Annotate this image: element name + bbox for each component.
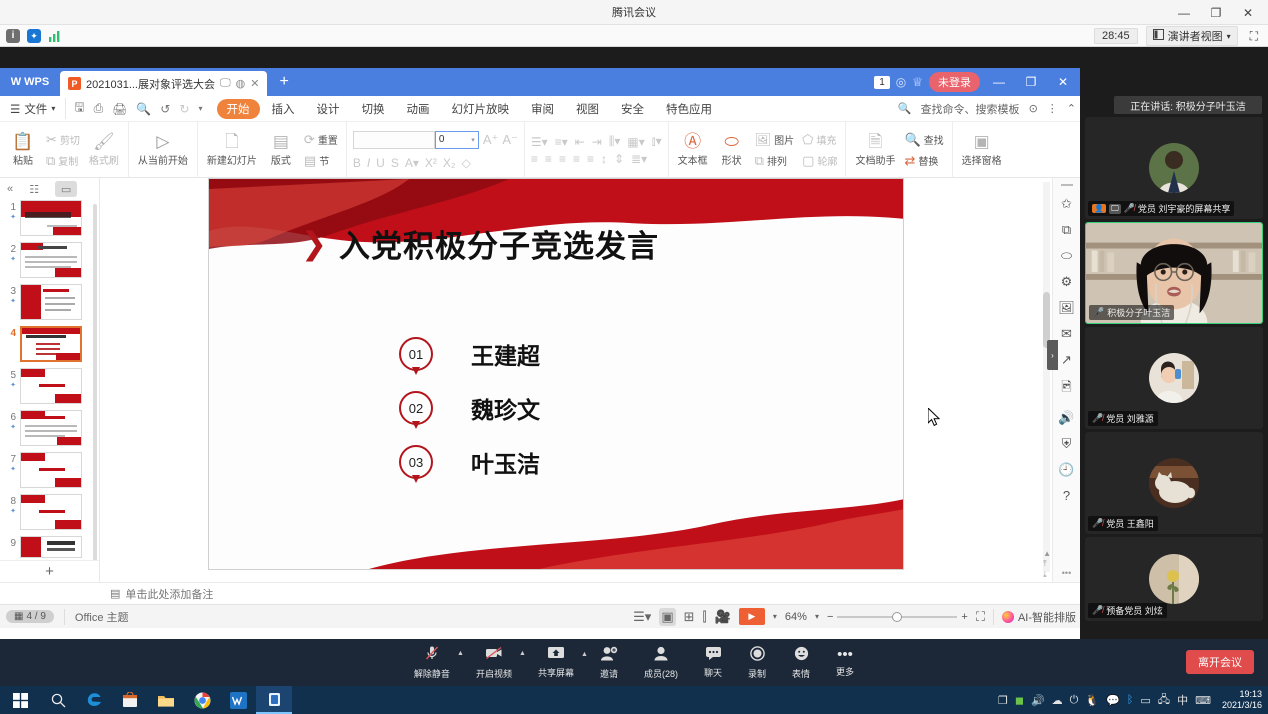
thumbnail-item[interactable]: 9 (2, 536, 99, 558)
nvidia-icon[interactable]: ◼ (1015, 694, 1024, 707)
thumbnail-item[interactable]: 7✦ (2, 452, 99, 488)
host-icon: 👤 (1092, 204, 1106, 213)
tab-切换[interactable]: 切换 (352, 99, 395, 119)
textbox-icon: Ⓐ (684, 133, 701, 151)
signal-icon[interactable] (48, 29, 62, 43)
current-slide[interactable]: ❯ 入党积极分子竞选发言 01 王建超 (208, 178, 904, 570)
ai-icon (1002, 611, 1014, 623)
search-icon: 🔍 (904, 132, 920, 148)
selection-pane-label: 选择窗格 (962, 152, 1002, 167)
font-name-input[interactable] (353, 131, 435, 149)
thumbnail-slide[interactable] (20, 242, 82, 278)
record-label: 录制 (748, 667, 766, 680)
image-icon[interactable]: 🖻 (1061, 378, 1071, 400)
tab-审阅[interactable]: 审阅 (521, 99, 564, 119)
slide-sorter-icon[interactable]: ⊞ (684, 609, 695, 625)
notes-icon: ▤ (110, 587, 120, 600)
cut-button[interactable]: ✂ 剪切 (44, 131, 82, 149)
invite-icon (600, 646, 618, 665)
copy-button[interactable]: ⧉ 复制 (44, 152, 82, 170)
help-icon[interactable]: ⊙ (1029, 102, 1038, 115)
doc-assistant-label: 文档助手 (855, 152, 895, 167)
rail-drag-handle[interactable] (1061, 184, 1073, 186)
smart-align-icon[interactable]: ≣▾ (631, 152, 647, 166)
ribbon-group-selection: ▣ 选择窗格 (953, 122, 1011, 178)
list-item[interactable]: 01 王建超 (399, 337, 540, 371)
zoom-out-button[interactable]: − (827, 611, 833, 623)
ribbon-group-start: ▷ 从当前开始 (129, 122, 198, 178)
invite-button[interactable]: 邀请 (600, 646, 618, 680)
clear-format-icon[interactable]: ◇ (462, 156, 471, 170)
thumbnail-item[interactable]: 2✦ (2, 242, 99, 278)
chevron-down-icon: ▾ (51, 104, 55, 113)
superscript-icon[interactable]: X² (425, 156, 437, 170)
screen-icon[interactable]: 🖵 (220, 77, 231, 90)
outline-view-icon[interactable]: ☷ (23, 181, 45, 197)
outline-button[interactable]: ▢ 轮廓 (800, 152, 839, 170)
more-icon: ••• (837, 647, 853, 663)
layout-button[interactable]: ▤ 版式 (264, 131, 298, 169)
align-right-icon[interactable]: ≡ (559, 152, 566, 166)
wps-window: W WPS P 2021031...展对象评选大会 🖵 ◍ ✕ + 1 ◎ ♕ … (0, 68, 1080, 690)
add-slide-button[interactable]: + (0, 560, 99, 582)
keyboard-icon[interactable]: ⌨ (1195, 694, 1211, 707)
slide-counter[interactable]: ▦ 4 / 9 (6, 610, 54, 623)
picture-button[interactable]: 🖼 图片 (753, 131, 797, 149)
thumbnail-scrollbar[interactable] (93, 204, 97, 560)
line-spacing-icon[interactable]: ↕ (601, 152, 607, 166)
close-tab-icon[interactable]: ✕ (250, 77, 259, 90)
doc-assistant-button[interactable]: 🗎 文档助手 (852, 131, 898, 169)
rail-more-icon[interactable]: ••• (1062, 568, 1071, 578)
maximize-button[interactable]: ❐ (1200, 1, 1232, 25)
emoji-label: 表情 (792, 667, 810, 680)
start-from-current-button[interactable]: ▷ 从当前开始 (135, 131, 191, 169)
notes-pane[interactable]: ▤ 单击此处添加备注 (0, 582, 1080, 604)
tab-动画[interactable]: 动画 (397, 99, 440, 119)
search-input[interactable]: 查找命令、搜索模板 (921, 101, 1020, 117)
thumbnail-item[interactable]: 8✦ (2, 494, 99, 530)
scroll-up-icon[interactable]: ▲ (1043, 549, 1051, 558)
wps-icon[interactable] (220, 686, 256, 714)
align-text-icon[interactable]: ▦▾ (627, 135, 644, 149)
ribbon-group-font: 0▾ A⁺ A⁻ B I U S A▾ X² X₂ (347, 122, 525, 178)
audio-icon[interactable]: 🔊 (1058, 410, 1074, 426)
search-icon[interactable]: 🔍 (898, 102, 912, 115)
fill-label: 填充 (816, 132, 836, 147)
participant-tile-active[interactable]: 🎤 积极分子叶玉洁 (1085, 222, 1263, 324)
thumbnail-slide[interactable] (20, 368, 82, 404)
thumbnail-slide[interactable] (20, 284, 82, 320)
decrease-indent-icon[interactable]: ⇤ (575, 135, 585, 149)
wps-close-button[interactable]: ✕ (1050, 75, 1076, 89)
print-preview-icon[interactable]: ⎙ (94, 101, 104, 116)
thumbnail-item-selected[interactable]: 4 (2, 326, 99, 362)
ime-icon[interactable]: 中 (1177, 692, 1188, 708)
skin-icon[interactable]: ♕ (912, 75, 923, 89)
members-icon (653, 646, 669, 665)
more-label: 更多 (836, 665, 854, 678)
theme-label[interactable]: Office 主题 (64, 609, 129, 625)
members-button[interactable]: 成员(28) (644, 646, 678, 680)
gallery-icon[interactable]: 🖼 (1058, 300, 1075, 316)
document-tab[interactable]: P 2021031...展对象评选大会 🖵 ◍ ✕ (60, 71, 267, 96)
clock-date: 2021/3/16 (1222, 700, 1262, 711)
star-icon[interactable]: ✩ (1061, 196, 1072, 212)
tab-插入[interactable]: 插入 (262, 99, 305, 119)
thumbnail-slide[interactable] (20, 200, 82, 236)
replace-label: 替换 (918, 153, 938, 168)
tab-count-badge[interactable]: 1 (874, 76, 890, 89)
security-icon[interactable]: ⛨ (1062, 436, 1072, 452)
list-item[interactable]: 02 魏珍文 (399, 391, 540, 425)
shape-button[interactable]: ⬭ 形状 (715, 131, 749, 169)
windows-taskbar: ❐ ◼ 🔊 ☁ ⏻ 🐧 💬 ᛒ ▭ 🖧 中 ⌨ 19:13 2021/3/16 (0, 686, 1268, 714)
presenter-view-icon[interactable]: 🎥 (715, 609, 731, 625)
store-icon[interactable] (112, 686, 148, 714)
doc-assistant-icon: 🗎 (869, 133, 883, 151)
participant-panel: 正在讲话: 积极分子叶玉洁 ↩ 👤 🖵 🎤̸ 党员 刘宇豪的屏幕共 (1080, 94, 1268, 686)
tab-安全[interactable]: 安全 (611, 99, 654, 119)
wps-status-bar: ▦ 4 / 9 Office 主题 ☰▾ ▣ ⊞ ⫿ 🎥 ▶ ▾ 64% ▾ (0, 604, 1080, 628)
search-icon[interactable] (40, 686, 76, 714)
redo-icon[interactable]: ↻ (179, 102, 189, 116)
wps-main-area: « ☷ ▭ 1✦ (0, 178, 1080, 582)
chevron-down-icon: ▾ (1227, 32, 1231, 41)
layout-label: 版式 (271, 152, 291, 167)
decrease-font-icon[interactable]: A⁻ (502, 132, 518, 148)
explorer-icon[interactable] (148, 686, 184, 714)
paragraph-spacing-icon[interactable]: ⇕ (614, 152, 624, 166)
participant-label: 🎤̸ 预备党员 刘炫 (1088, 603, 1167, 618)
increase-indent-icon[interactable]: ⇥ (592, 135, 602, 149)
chat-icon (705, 646, 722, 664)
font-size-input[interactable]: 0 (439, 134, 445, 145)
tab-幻灯片放映[interactable]: 幻灯片放映 (442, 99, 520, 119)
distribute-icon[interactable]: ≡ (587, 152, 594, 166)
fill-icon: ⬠ (802, 132, 813, 148)
new-slide-label: 新建幻灯片 (207, 152, 257, 167)
find-icon[interactable]: 🔍 (136, 102, 151, 116)
number-list-icon[interactable]: ≡▾ (555, 135, 568, 149)
emoji-button[interactable]: 表情 (792, 646, 810, 680)
participant-tile[interactable]: 🎤̸ 党员 刘雅源 (1085, 327, 1263, 429)
brush-icon: 🖌 (93, 133, 115, 151)
collapse-ribbon-icon[interactable]: ⌃ (1067, 102, 1076, 115)
fit-to-window-icon[interactable]: ⛶ (976, 609, 985, 625)
meeting-icon[interactable] (256, 686, 292, 714)
section-button[interactable]: ▤ 节 (302, 152, 340, 170)
play-options-icon[interactable]: ▾ (773, 612, 777, 621)
outline-icon: ▢ (802, 153, 814, 169)
quick-access-toolbar: 🖫 ⎙ 🖨 🔍 ↺ ↻ ▾ (65, 98, 210, 119)
meeting-titlebar: 腾讯会议 — ❐ ✕ (0, 0, 1268, 25)
thumbnail-item[interactable]: 5✦ (2, 368, 99, 404)
textbox-label: 文本框 (678, 152, 708, 167)
list-item[interactable]: 03 叶玉洁 (399, 445, 540, 479)
thumbnail-slide[interactable] (20, 410, 82, 446)
clock[interactable]: 19:13 2021/3/16 (1218, 689, 1262, 711)
animation-star-icon: ✦ (2, 297, 16, 305)
slide-thumbnail-panel: « ☷ ▭ 1✦ (0, 178, 100, 582)
print-icon[interactable]: 🖨 (112, 102, 127, 116)
collapse-panel-icon[interactable]: « (7, 183, 13, 195)
tab-开始[interactable]: 开始 (217, 99, 260, 119)
candidate-name: 叶玉洁 (471, 445, 540, 479)
view-mode-selector[interactable]: 演讲者视图 ▾ (1146, 26, 1238, 46)
notes-placeholder: 单击此处添加备注 (125, 586, 213, 602)
file-menu-label: 文件 (24, 101, 47, 117)
bluetooth-icon[interactable]: ᛒ (1127, 694, 1134, 706)
wps-menubar: ☰ 文件 ▾ 🖫 ⎙ 🖨 🔍 ↺ ↻ ▾ 开始 插入 设计 切 (0, 96, 1080, 122)
wps-titlebar: W WPS P 2021031...展对象评选大会 🖵 ◍ ✕ + 1 ◎ ♕ … (0, 68, 1080, 96)
thumbnail-slide[interactable] (20, 326, 82, 362)
battery-icon[interactable]: ▭ (1140, 694, 1150, 707)
chrome-icon[interactable] (184, 686, 220, 714)
task-view-icon[interactable]: ❐ (998, 694, 1008, 707)
ai-layout-label: AI-智能排版 (1018, 609, 1076, 625)
thumbnail-number: 6 (2, 410, 16, 423)
reading-view-icon[interactable]: ⫿ (703, 609, 707, 625)
save-icon[interactable]: 🖫 (74, 98, 84, 119)
share-screen-button[interactable]: 共享屏幕 ▲ (538, 646, 574, 679)
participant-tile[interactable]: 👤 🖵 🎤̸ 党员 刘宇豪的屏幕共享 (1085, 117, 1263, 219)
qq-icon[interactable]: 🐧 (1085, 694, 1099, 707)
subscript-icon[interactable]: X₂ (443, 156, 456, 170)
meeting-body: W WPS P 2021031...展对象评选大会 🖵 ◍ ✕ + 1 ◎ ♕ … (0, 47, 1268, 686)
record-button[interactable]: 录制 (748, 646, 766, 680)
undo-icon[interactable]: ↺ (160, 102, 170, 116)
layout-icon: ▤ (273, 133, 289, 151)
animation-star-icon: ✦ (2, 423, 16, 431)
ribbon-group-tools: 🗎 文档助手 🔍 查找 ⇄ 替换 (846, 122, 952, 178)
chevron-right-icon: ❯ (301, 228, 327, 259)
close-button[interactable]: ✕ (1232, 1, 1264, 25)
slide-decor-bottom (209, 485, 904, 569)
thumbnail-slide[interactable] (20, 536, 82, 558)
normal-view-icon[interactable]: ▣ (659, 608, 675, 626)
zoom-in-button[interactable]: + (961, 611, 967, 623)
chevron-up-icon[interactable]: ▲ (581, 651, 588, 658)
thumbnail-slide[interactable] (20, 452, 82, 488)
thumbnail-slide[interactable] (20, 494, 82, 530)
wps-restore-button[interactable]: ❐ (1018, 75, 1044, 89)
wechat-icon[interactable]: 💬 (1106, 694, 1120, 707)
arrange-button[interactable]: ⧉ 排列 (753, 152, 797, 170)
onedrive-icon[interactable]: ☁ (1052, 694, 1063, 707)
paste-button[interactable]: 📋 粘贴 (6, 131, 40, 169)
envelope-icon[interactable]: ✉ (1061, 326, 1072, 342)
slide-counter-icon: ▦ (14, 611, 23, 622)
customize-qat-icon[interactable]: ▾ (198, 104, 202, 113)
tab-特色应用[interactable]: 特色应用 (656, 99, 722, 119)
outline-icon[interactable]: ☰▾ (633, 609, 651, 625)
chevron-up-icon[interactable]: ▲ (519, 650, 526, 657)
view-mode-label: 演讲者视图 (1168, 28, 1223, 44)
shape-icon[interactable]: ⬭ (1061, 248, 1072, 264)
justify-icon[interactable]: ≡ (573, 152, 580, 166)
usb-icon[interactable]: ⏻ (1070, 694, 1079, 707)
badge-number: 02 (399, 391, 433, 425)
thumbnail-item[interactable]: 6✦ (2, 410, 99, 446)
find-label: 查找 (924, 132, 944, 147)
more-button[interactable]: ••• 更多 (836, 647, 854, 678)
unmute-button[interactable]: 解除静音 ▲ (414, 645, 450, 680)
slide-canvas[interactable]: ❯ 入党积极分子竞选发言 01 王建超 (100, 178, 1052, 582)
format-painter-button[interactable]: 🖌 格式刷 (86, 131, 122, 169)
animation-star-icon: ✦ (2, 381, 16, 389)
thumbnail-number: 9 (2, 536, 16, 549)
italic-icon[interactable]: I (367, 156, 370, 170)
chevron-up-icon[interactable]: ▲ (457, 650, 464, 657)
participant-name: 党员 王鑫阳 (1106, 517, 1154, 530)
right-tool-rail: ✩ ⧉ ⬭ ⚙ 🖼 ✉ ↗ 🖻 🔊 ⛨ 🕘 ? › ••• (1052, 178, 1080, 582)
thumbnail-item[interactable]: 3✦ (2, 284, 99, 320)
share-icon[interactable]: ↗ (1061, 352, 1072, 368)
minimize-button[interactable]: — (1168, 1, 1200, 25)
edge-icon[interactable] (76, 686, 112, 714)
slide-title-row[interactable]: ❯ 入党积极分子竞选发言 (301, 221, 659, 266)
ribbon-group-slides: 🗋 新建幻灯片 ▤ 版式 ⟳ 重置 ▤ 节 (198, 122, 347, 178)
leave-meeting-button[interactable]: 离开会议 (1186, 650, 1254, 674)
expand-rail-icon[interactable]: › (1047, 340, 1058, 370)
volume-icon[interactable]: 🔊 (1031, 694, 1045, 707)
new-slide-button[interactable]: 🗋 新建幻灯片 (204, 131, 260, 169)
animation-star-icon: ✦ (2, 213, 16, 221)
start-video-button[interactable]: 开启视频 ▲ (476, 645, 512, 680)
chat-button[interactable]: 聊天 (704, 646, 722, 679)
copy-icon: ⧉ (46, 153, 55, 169)
chat-label: 聊天 (704, 666, 722, 679)
zoom-knob[interactable] (892, 612, 902, 622)
zoom-level-label[interactable]: 64% (785, 611, 807, 623)
system-tray: ❐ ◼ 🔊 ☁ ⏻ 🐧 💬 ᛒ ▭ 🖧 中 ⌨ 19:13 2021/3/16 (998, 686, 1268, 714)
ribbon-group-insert: Ⓐ 文本框 ⬭ 形状 🖼 图片 ⧉ 排列 (669, 122, 847, 178)
zoom-slider[interactable]: − + (827, 611, 968, 623)
animation-star-icon: ✦ (2, 255, 16, 263)
mic-muted-icon: 🎤̸ (1092, 413, 1103, 424)
transfer-icon[interactable]: ⧉ (1062, 222, 1071, 238)
align-left-icon[interactable]: ≡ (531, 152, 538, 166)
paste-label: 粘贴 (13, 152, 33, 167)
new-tab-button[interactable]: + (267, 68, 300, 96)
network-icon[interactable]: 🖧 (1158, 691, 1170, 710)
share-screen-icon (547, 646, 565, 664)
tab-视图[interactable]: 视图 (566, 99, 609, 119)
wps-titlebar-right: 1 ◎ ♕ 未登录 — ❐ ✕ (874, 68, 1080, 96)
avatar (1149, 554, 1199, 604)
emoji-icon (794, 646, 809, 665)
replace-button[interactable]: ⇄ 替换 (902, 152, 945, 170)
zoom-track[interactable] (837, 616, 957, 618)
next-slide-icon[interactable]: ⤓ (1043, 570, 1051, 580)
section-label: 节 (319, 153, 329, 168)
participant-name: 党员 刘宇豪的屏幕共享 (1138, 202, 1231, 215)
reset-button[interactable]: ⟳ 重置 (302, 131, 340, 149)
history-icon[interactable]: 🕘 (1058, 462, 1074, 478)
settings-icon[interactable]: ⚙ (1061, 274, 1073, 290)
candidate-name: 王建超 (471, 337, 540, 371)
animation-star-icon: ✦ (2, 507, 16, 515)
meeting-subbar: i ✦ 28:45 演讲者视图 ▾ ⛶ (0, 25, 1268, 47)
ai-layout-button[interactable]: AI-智能排版 (993, 609, 1076, 625)
number-badge-icon: 03 (399, 445, 433, 479)
selection-pane-button[interactable]: ▣ 选择窗格 (959, 131, 1005, 169)
wps-minimize-button[interactable]: — (986, 75, 1012, 89)
wps-ribbon: 📋 粘贴 ✂ 剪切 ⧉ 复制 🖌 (0, 122, 1080, 178)
replace-icon: ⇄ (904, 153, 915, 169)
meeting-timer: 28:45 (1094, 28, 1138, 44)
participant-tile[interactable]: 🎤̸ 预备党员 刘炫 (1085, 537, 1263, 621)
play-slideshow-button[interactable]: ▶ (739, 608, 765, 625)
badge-number: 01 (399, 337, 433, 371)
start-video-label: 开启视频 (476, 667, 512, 680)
login-status-button[interactable]: 未登录 (929, 72, 980, 92)
canvas-nav-arrows[interactable]: ▲ ⤒ ⤓ (1043, 549, 1051, 580)
shield-icon[interactable]: ✦ (27, 29, 41, 43)
bulb-icon[interactable]: ◍ (236, 77, 246, 90)
more-options-icon[interactable]: ⋮ (1047, 102, 1058, 115)
fill-button[interactable]: ⬠ 填充 (800, 131, 839, 149)
align-center-icon[interactable]: ≡ (545, 152, 552, 166)
fullscreen-icon[interactable]: ⛶ (1246, 29, 1262, 44)
zoom-dropdown-icon[interactable]: ▾ (815, 612, 819, 621)
slide-counter-label: 4 / 9 (26, 611, 45, 622)
tab-设计[interactable]: 设计 (307, 99, 350, 119)
thumbnail-list[interactable]: 1✦ 2✦ (0, 200, 99, 560)
clock-time: 19:13 (1239, 689, 1262, 700)
thumbnail-view-icon[interactable]: ▭ (55, 181, 77, 197)
mic-on-icon: 🎤 (1093, 307, 1104, 318)
previous-slide-icon[interactable]: ⤒ (1043, 559, 1051, 569)
strikethrough-icon[interactable]: S (391, 156, 399, 170)
bullet-list-icon[interactable]: ☰▾ (531, 135, 548, 149)
thumbnail-number: 5 (2, 368, 16, 381)
underline-icon[interactable]: U (376, 156, 385, 170)
participant-name: 预备党员 刘炫 (1106, 604, 1163, 617)
participant-tile[interactable]: 🎤̸ 党员 王鑫阳 (1085, 432, 1263, 534)
columns-icon[interactable]: ⫾▾ (652, 134, 662, 149)
screen-share-icon: 🖵 (1109, 204, 1121, 214)
arrange-label: 排列 (767, 153, 787, 168)
textbox-button[interactable]: Ⓐ 文本框 (675, 131, 711, 169)
help-icon[interactable]: ? (1063, 488, 1070, 503)
info-icon[interactable]: i (6, 29, 20, 43)
members-label: 成员(28) (644, 667, 678, 680)
ribbon-group-paragraph: ☰▾ ≡▾ ⇤ ⇥ ⫼▾ ▦▾ ⫾▾ ≡ ≡ ≡ ≡ (525, 122, 669, 178)
text-direction-icon[interactable]: ⫼▾ (609, 134, 621, 149)
reset-icon: ⟳ (304, 132, 315, 148)
meeting-toolbar: 解除静音 ▲ 开启视频 ▲ 共享屏幕 ▲ 邀请 (0, 639, 1268, 686)
bold-icon[interactable]: B (353, 156, 361, 170)
canvas-vertical-scrollbar[interactable] (1043, 182, 1050, 572)
mic-muted-icon: 🎤̸ (1092, 518, 1103, 529)
sync-icon[interactable]: ◎ (896, 75, 906, 89)
unmute-label: 解除静音 (414, 667, 450, 680)
microphone-muted-icon (424, 645, 440, 665)
thumbnail-number: 2 (2, 242, 16, 255)
start-icon[interactable] (0, 686, 40, 714)
file-menu-button[interactable]: ☰ 文件 ▾ (0, 101, 65, 117)
badge-pin-icon (412, 367, 420, 375)
animation-star-icon: ✦ (2, 465, 16, 473)
arrange-icon: ⧉ (755, 153, 764, 169)
thumbnail-item[interactable]: 1✦ (2, 200, 99, 236)
increase-font-icon[interactable]: A⁺ (483, 132, 499, 148)
picture-label: 图片 (774, 132, 794, 147)
font-color-icon[interactable]: A▾ (405, 156, 419, 170)
find-button[interactable]: 🔍 查找 (902, 131, 945, 149)
